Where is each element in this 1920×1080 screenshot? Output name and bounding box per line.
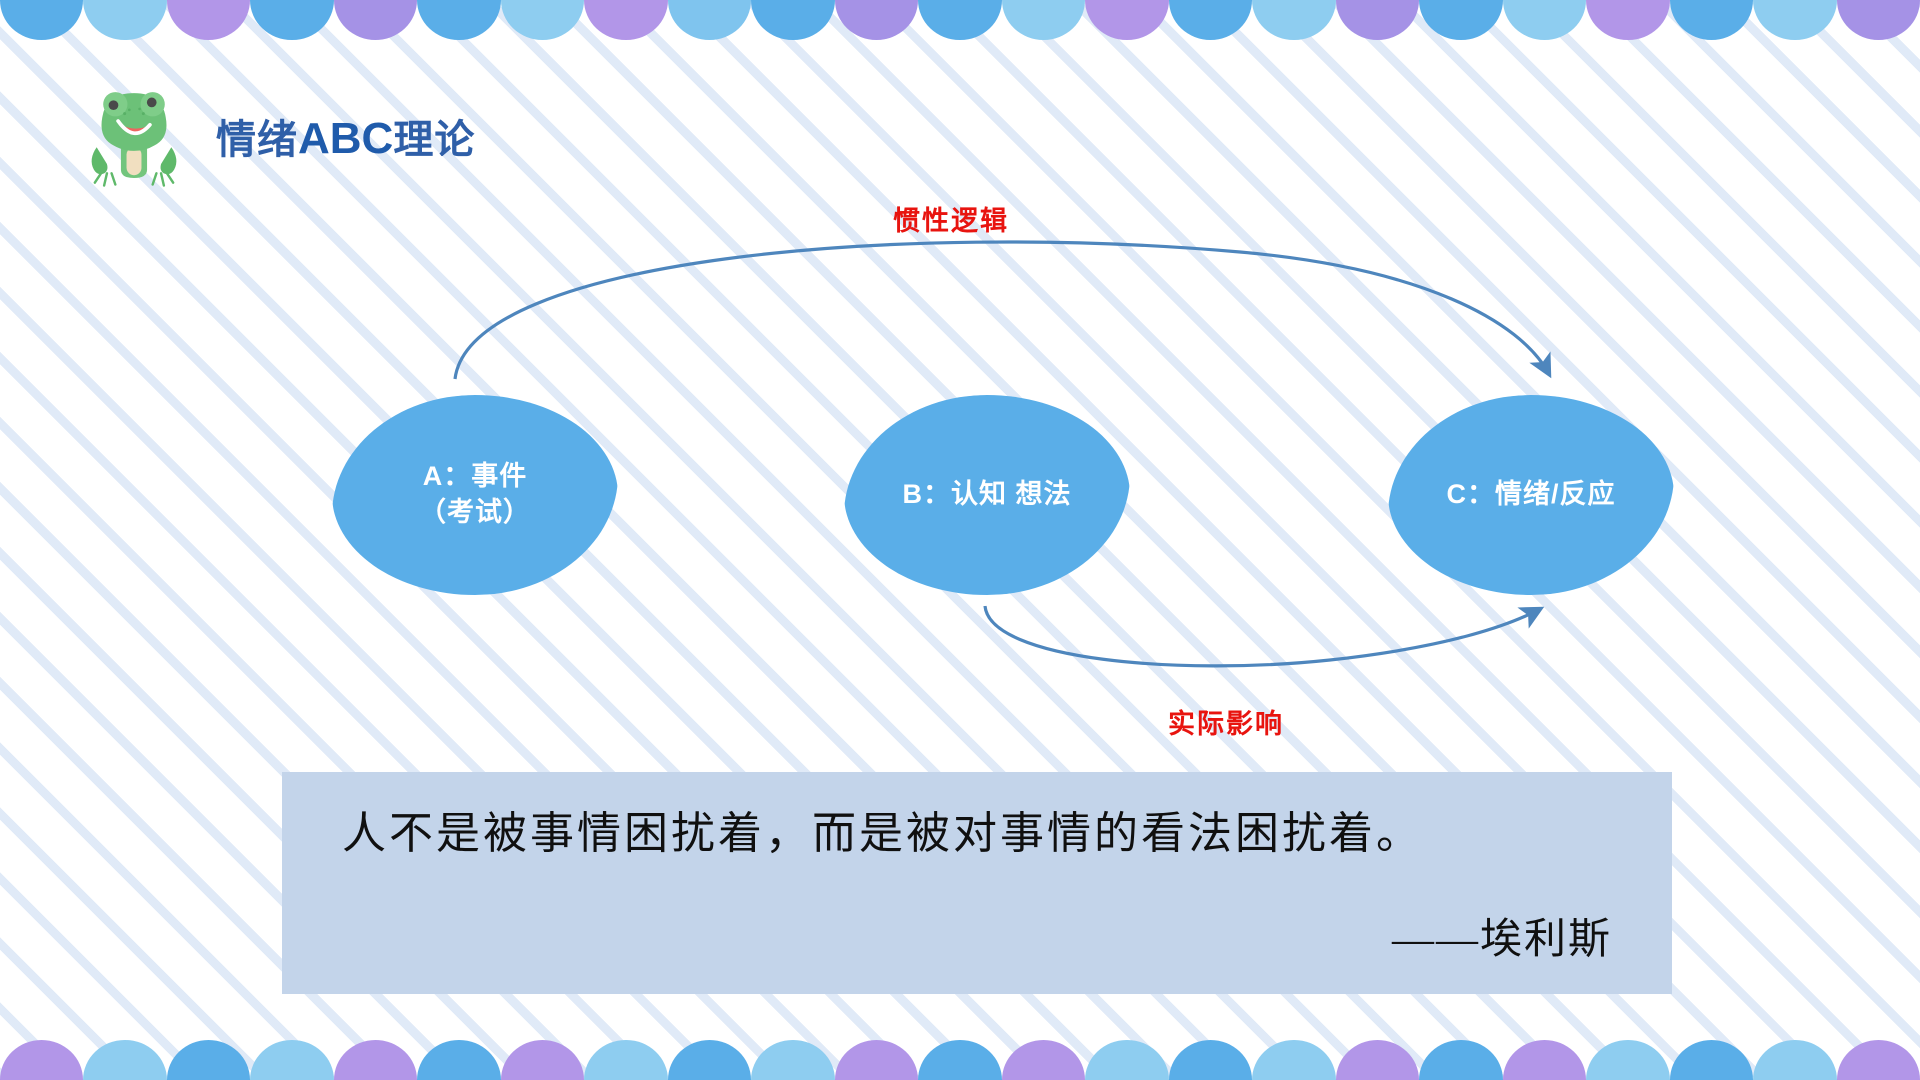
- scallop-bottom-1: [83, 1040, 166, 1080]
- scallop-bottom-10: [835, 1040, 918, 1080]
- scallop-top-22: [1837, 0, 1920, 40]
- scallop-top-17: [1419, 0, 1502, 40]
- scallop-bottom-19: [1586, 1040, 1669, 1080]
- scallop-top-10: [835, 0, 918, 40]
- scallop-bottom-21: [1753, 1040, 1836, 1080]
- scallop-bottom-6: [501, 1040, 584, 1080]
- scallop-top-8: [668, 0, 751, 40]
- scallop-bottom-14: [1169, 1040, 1252, 1080]
- scallop-top-19: [1586, 0, 1669, 40]
- slide-header: 情绪ABC理论: [78, 80, 475, 192]
- scallop-top-13: [1085, 0, 1168, 40]
- scallop-bottom-8: [668, 1040, 751, 1080]
- scallop-bottom-18: [1503, 1040, 1586, 1080]
- node-b-label: B：认知 想法: [893, 477, 1082, 513]
- scallop-top-2: [167, 0, 250, 40]
- quote-text: 人不是被事情困扰着，而是被对事情的看法困扰着。: [342, 806, 1612, 861]
- scallop-top-5: [417, 0, 500, 40]
- scallop-top-0: [0, 0, 83, 40]
- quote-box: 人不是被事情困扰着，而是被对事情的看法困扰着。 ——埃利斯: [282, 772, 1672, 994]
- page-title-prefix: 情绪: [216, 118, 298, 162]
- scallop-bottom-17: [1419, 1040, 1502, 1080]
- scallop-bottom-12: [1002, 1040, 1085, 1080]
- scallop-bottom-4: [334, 1040, 417, 1080]
- scallop-bottom-16: [1336, 1040, 1419, 1080]
- scallop-top-20: [1670, 0, 1753, 40]
- scallop-top-7: [584, 0, 667, 40]
- scallop-top-21: [1753, 0, 1836, 40]
- scallop-top-12: [1002, 0, 1085, 40]
- node-b-cognition[interactable]: B：认知 想法: [844, 395, 1130, 595]
- slide-canvas: 情绪ABC理论 A：事件 （考试） B：认知 想法 C：情绪/反应 惯性逻辑 实…: [0, 0, 1920, 1080]
- scallop-bottom-7: [584, 1040, 667, 1080]
- page-title: 情绪ABC理论: [216, 107, 475, 165]
- scallop-bottom-11: [918, 1040, 1001, 1080]
- bottom-scallop-border: [0, 1040, 1920, 1080]
- scallop-top-9: [751, 0, 834, 40]
- node-c-label: C：情绪/反应: [1437, 477, 1626, 513]
- scallop-top-11: [918, 0, 1001, 40]
- scallop-top-1: [83, 0, 166, 40]
- scallop-top-3: [250, 0, 333, 40]
- scallop-top-4: [334, 0, 417, 40]
- arrow-a-to-c: [455, 242, 1549, 379]
- scallop-bottom-9: [751, 1040, 834, 1080]
- scallop-top-16: [1336, 0, 1419, 40]
- top-scallop-border: [0, 0, 1920, 40]
- page-title-suffix: 理论: [393, 118, 475, 162]
- scallop-bottom-0: [0, 1040, 83, 1080]
- scallop-top-14: [1169, 0, 1252, 40]
- scallop-bottom-20: [1670, 1040, 1753, 1080]
- arrow-b-to-c: [985, 606, 1540, 666]
- node-a-label: A：事件 （考试）: [409, 459, 541, 531]
- frog-mascot-icon: [78, 80, 190, 192]
- scallop-bottom-22: [1837, 1040, 1920, 1080]
- scallop-bottom-15: [1252, 1040, 1335, 1080]
- node-c-emotion[interactable]: C：情绪/反应: [1388, 395, 1674, 595]
- scallop-bottom-13: [1085, 1040, 1168, 1080]
- edge-label-actual-impact: 实际影响: [1168, 702, 1284, 741]
- node-a-event[interactable]: A：事件 （考试）: [332, 395, 618, 595]
- edge-label-inertial-logic: 惯性逻辑: [893, 199, 1009, 238]
- scallop-bottom-2: [167, 1040, 250, 1080]
- scallop-bottom-3: [250, 1040, 333, 1080]
- scallop-top-18: [1503, 0, 1586, 40]
- page-title-accent: ABC: [298, 114, 393, 163]
- scallop-top-15: [1252, 0, 1335, 40]
- scallop-top-6: [501, 0, 584, 40]
- quote-attribution: ——埃利斯: [342, 905, 1612, 966]
- scallop-bottom-5: [417, 1040, 500, 1080]
